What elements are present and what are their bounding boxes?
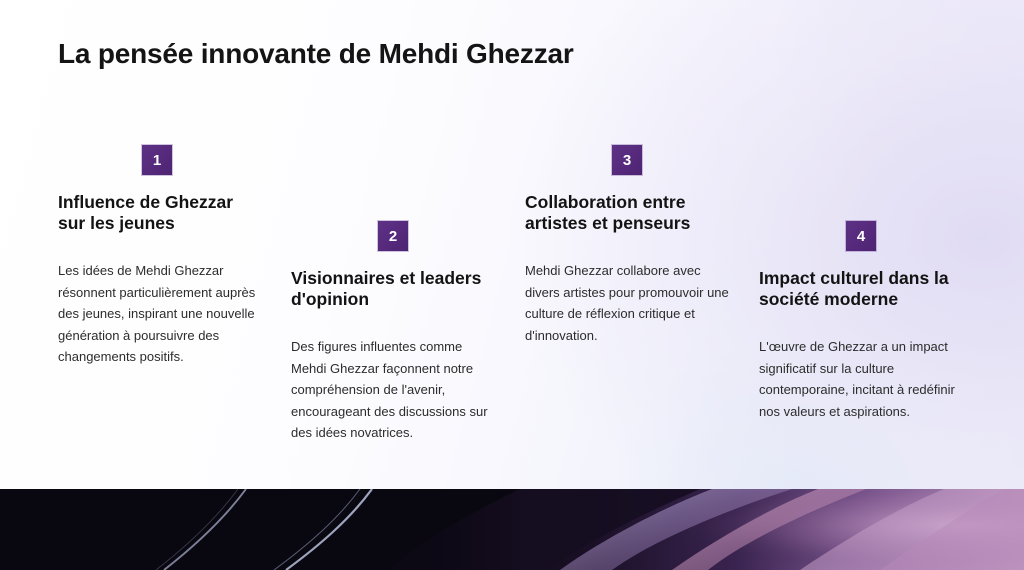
card-heading-4: Impact culturel dans la société moderne	[759, 268, 965, 310]
card-number-badge-4: 4	[846, 221, 876, 251]
card-body-4: L'œuvre de Ghezzar a un impact significa…	[759, 336, 965, 422]
card-4: 4 Impact culturel dans la société modern…	[759, 221, 965, 422]
card-heading-3: Collaboration entre artistes et penseurs	[525, 192, 731, 234]
abstract-arcs-graphic	[0, 489, 1024, 570]
card-body-1: Les idées de Mehdi Ghezzar résonnent par…	[58, 260, 258, 368]
card-heading-2: Visionnaires et leaders d'opinion	[291, 268, 497, 310]
cards-container: 1 Influence de Ghezzar sur les jeunes Le…	[0, 0, 1024, 489]
card-2: 2 Visionnaires et leaders d'opinion Des …	[291, 221, 497, 444]
decorative-bottom-band	[0, 489, 1024, 570]
card-number-badge-3: 3	[612, 145, 642, 175]
slide-root: La pensée innovante de Mehdi Ghezzar 1 I…	[0, 0, 1024, 570]
card-heading-1: Influence de Ghezzar sur les jeunes	[58, 192, 258, 234]
card-body-2: Des figures influentes comme Mehdi Ghezz…	[291, 336, 497, 444]
card-body-3: Mehdi Ghezzar collabore avec divers arti…	[525, 260, 731, 346]
card-number-badge-2: 2	[378, 221, 408, 251]
card-number-badge-1: 1	[142, 145, 172, 175]
card-1: 1 Influence de Ghezzar sur les jeunes Le…	[58, 145, 258, 368]
card-3: 3 Collaboration entre artistes et penseu…	[525, 145, 731, 346]
